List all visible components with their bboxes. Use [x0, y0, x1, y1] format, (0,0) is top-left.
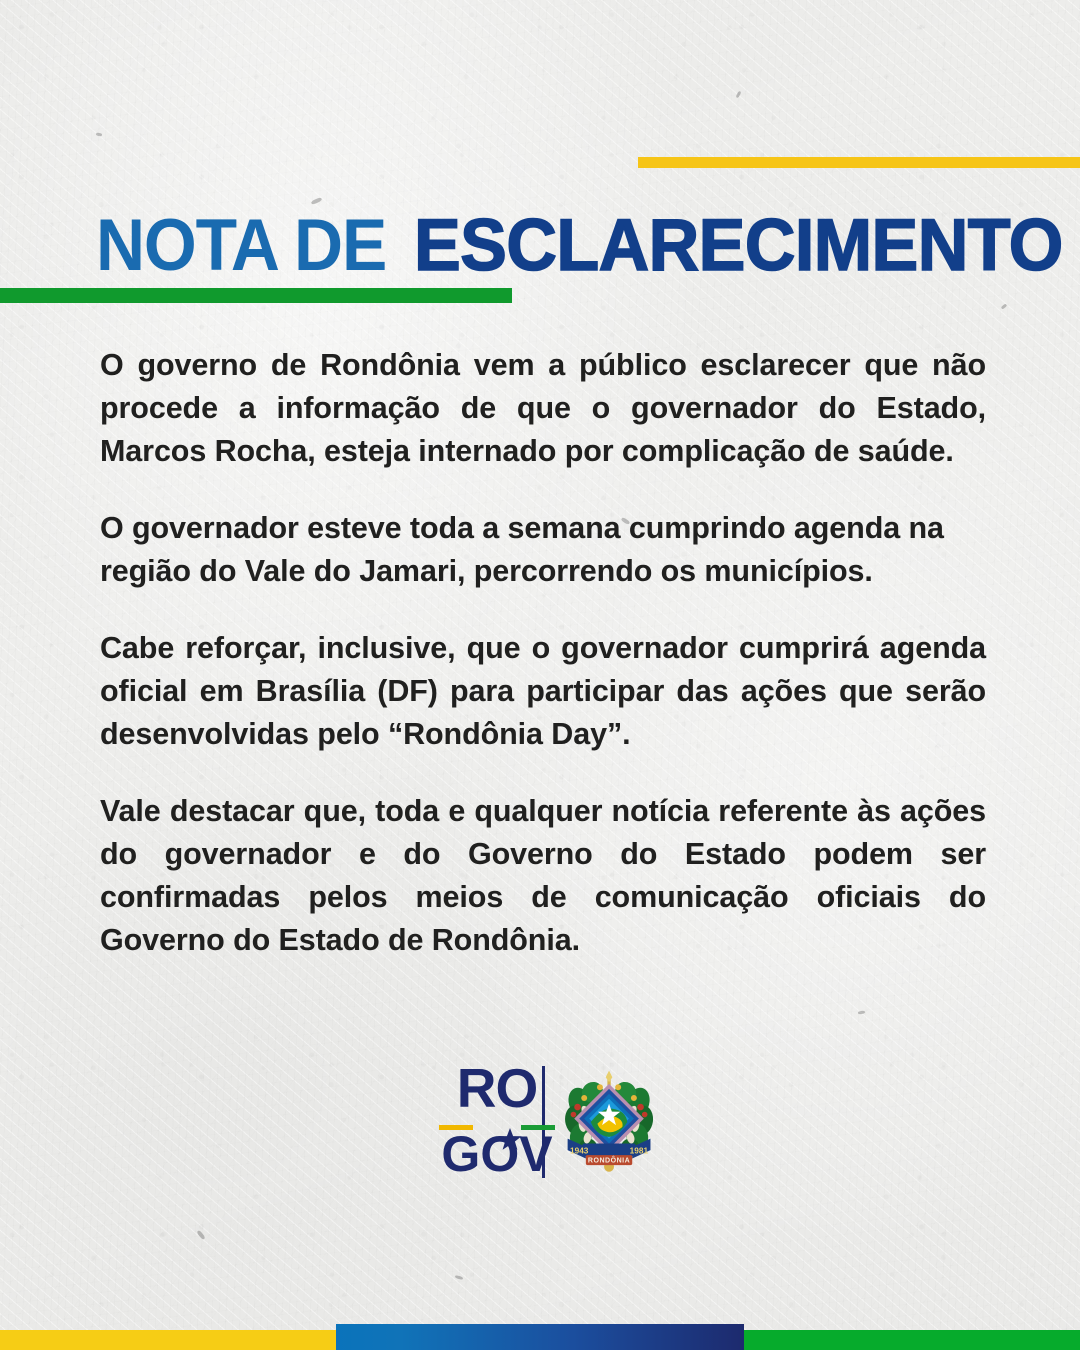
- paper-speck: [858, 1010, 865, 1014]
- coat-of-arms-year-right: 1981: [630, 1146, 649, 1155]
- coat-of-arms-year-left: 1943: [570, 1146, 589, 1155]
- statement-body: O governo de Rondônia vem a público escl…: [100, 344, 986, 962]
- footer-colour-bar: [0, 1320, 1080, 1350]
- rondonia-coat-of-arms-icon: 1943 1981 RONDÔNIA: [561, 1060, 657, 1184]
- footer-bar-blue: [336, 1324, 744, 1350]
- page-title: NOTA DEESCLARECIMENTO: [96, 209, 1016, 282]
- paper-speck: [455, 1275, 464, 1280]
- footer-bar-yellow: [0, 1330, 336, 1350]
- rogov-wordmark: RO GOV: [437, 1059, 536, 1185]
- paper-speck: [196, 1230, 205, 1240]
- statement-paragraph: O governador esteve toda a semana cumpri…: [100, 507, 986, 593]
- paper-speck: [735, 91, 741, 99]
- statement-paragraph: Cabe reforçar, inclusive, que o governad…: [100, 627, 986, 756]
- coat-of-arms-state-name: RONDÔNIA: [588, 1156, 630, 1165]
- wordmark-ro: RO: [437, 1061, 557, 1116]
- accent-rule-green: [0, 288, 512, 303]
- statement-paragraph: Vale destacar que, toda e qualquer notíc…: [100, 790, 986, 962]
- paper-speck: [311, 197, 323, 205]
- government-logo-lockup: RO GOV: [437, 1058, 657, 1186]
- page-title-part-two: ESCLARECIMENTO: [414, 209, 1063, 282]
- page-title-part-one: NOTA DE: [96, 209, 386, 282]
- paper-speck: [96, 132, 102, 136]
- statement-paragraph: O governo de Rondônia vem a público escl…: [100, 344, 986, 473]
- paper-speck: [1001, 303, 1007, 309]
- wordmark-gov: GOV: [437, 1129, 557, 1179]
- statement-card: NOTA DEESCLARECIMENTO O governo de Rondô…: [0, 0, 1080, 1350]
- accent-rule-yellow: [638, 157, 1080, 168]
- footer-bar-green: [744, 1330, 1080, 1350]
